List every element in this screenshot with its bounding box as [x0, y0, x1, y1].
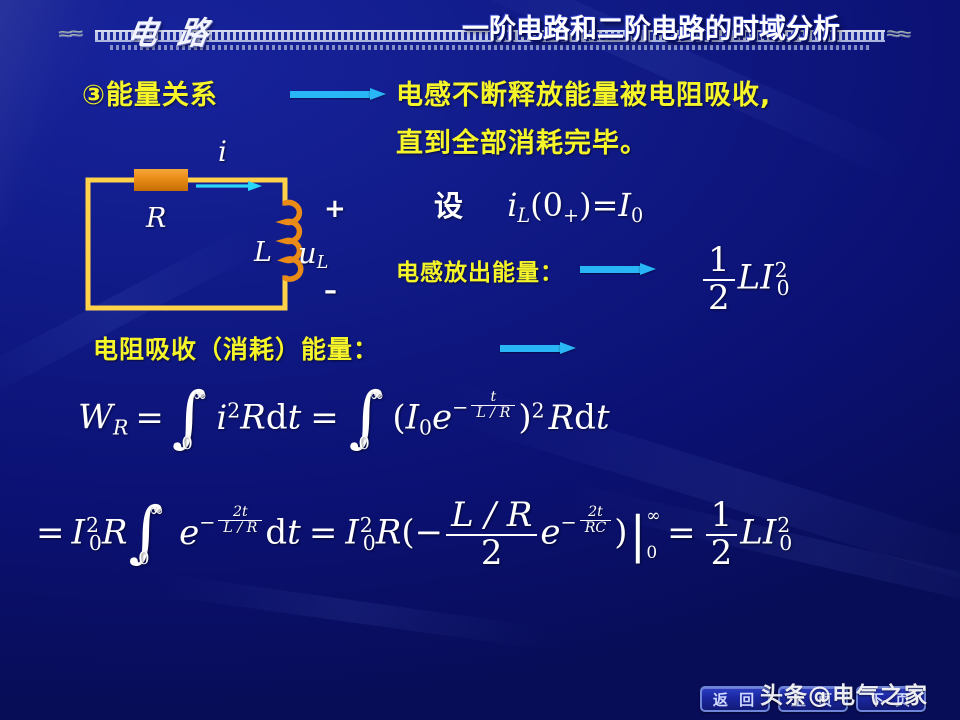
paren-open: (0	[530, 186, 563, 224]
fraction-denominator: 2	[706, 534, 738, 572]
integral-upper-limit: ∞	[193, 386, 208, 406]
inductor-energy-formula: 12LI20	[700, 243, 790, 316]
fraction-numerator: 1	[703, 243, 735, 279]
exponent-fraction: 2tL / R	[218, 505, 262, 536]
polarity-plus-label: +	[324, 194, 346, 224]
initial-current-subscript: 0	[89, 531, 102, 555]
differential-d-2: d	[574, 398, 596, 438]
one-half-fraction: 12	[706, 498, 738, 571]
differential-variable-2: t	[596, 398, 610, 438]
paren-close-equals: )=	[579, 186, 618, 224]
equals-sign-3: =	[667, 513, 696, 553]
exponent-numerator: 2t	[218, 505, 262, 520]
initial-current-symbol-2: I	[345, 513, 358, 553]
resistor-label: R	[146, 203, 166, 234]
polarity-minus-label: –	[324, 276, 337, 306]
equals-sign: =	[36, 513, 65, 553]
leaf-flourish-icon: ≈≈	[57, 24, 81, 45]
integral-sign: ∫∞0	[129, 506, 164, 563]
plus-subscript: +	[563, 204, 579, 227]
current-subscript: L	[517, 204, 530, 227]
resistance-variable-2: R	[376, 513, 402, 553]
resistance-variable-2: R	[549, 398, 575, 438]
integral-sign-2: ∫∞0	[349, 391, 384, 448]
fraction-denominator: 2	[703, 279, 735, 317]
exponent-group: −2tL / R	[199, 499, 265, 537]
exponent-minus: −	[452, 396, 468, 419]
integral-upper-limit: ∞	[369, 386, 384, 406]
exponent-denominator-2: RC	[580, 520, 612, 536]
back-button[interactable]: 返 回	[700, 686, 770, 712]
exponent-group: −tL / R	[452, 384, 518, 422]
exponent-numerator: t	[471, 390, 515, 405]
description-line-1: 电感不断释放能量被电阻吸收,	[396, 73, 771, 112]
fraction-numerator: 1	[706, 498, 738, 534]
integral-lower-limit: 0	[358, 434, 369, 454]
navigation-bar: 返 回 上 页 下 页	[700, 686, 926, 712]
page-title: 一阶电路和二阶电路的时域分析	[462, 7, 840, 46]
one-half-fraction: 12	[703, 243, 735, 316]
paren-close: )	[518, 398, 531, 438]
current-exponent: 2	[227, 398, 240, 422]
fraction-denominator: 2	[446, 534, 537, 572]
exponential-base-2: e	[540, 513, 560, 553]
section-heading-energy-relation: ③能量关系	[82, 73, 218, 112]
equals-sign-2: =	[310, 398, 339, 438]
exponent-fraction-2: 2tRC	[580, 505, 612, 536]
slide-header: ≈≈ ≈≈ 电 路 一阶电路和二阶电路的时域分析	[0, 0, 960, 58]
equals-sign-2: =	[309, 513, 338, 553]
setting-word: 设	[434, 189, 463, 223]
resistor-energy-label: 电阻吸收（消耗）能量：	[93, 330, 379, 366]
paren-close: )	[614, 513, 627, 553]
next-page-button[interactable]: 下 页	[856, 686, 926, 712]
differential-d: d	[266, 398, 288, 438]
eval-lower-limit: 0	[646, 543, 657, 563]
exponential-base: e	[179, 513, 199, 553]
exponent-denominator: L / R	[218, 520, 262, 536]
voltage-symbol: u	[298, 236, 317, 270]
leaf-flourish-icon: ≈≈	[885, 24, 909, 45]
brand-logo: 电 路	[124, 7, 217, 54]
right-arrow-icon	[290, 88, 386, 100]
initial-current-symbol: I	[72, 513, 85, 553]
work-subscript: R	[113, 416, 128, 440]
differential-variable: t	[288, 398, 302, 438]
exponent-minus-2: −	[560, 511, 576, 534]
equals-sign: =	[135, 398, 164, 438]
voltage-subscript: L	[317, 253, 329, 273]
circuit-diagram: i R L uL + –	[72, 140, 372, 335]
initial-current-subscript: 0	[631, 204, 643, 227]
description-line-2: 直到全部消耗完毕。	[396, 121, 648, 160]
initial-current-symbol: I	[406, 398, 419, 438]
differential-d: d	[265, 513, 287, 553]
integral-lower-limit: 0	[138, 549, 149, 569]
current-variable: i	[216, 398, 227, 438]
integral-lower-limit: 0	[181, 434, 192, 454]
resistor-component	[134, 169, 188, 191]
initial-current-subscript-2: 0	[363, 531, 376, 555]
exponent-minus: −	[199, 511, 215, 534]
right-arrow-icon	[500, 342, 576, 354]
work-equation-line-2: =I20R∫∞0e−2tL / Rdt=I20R(−L / R2e−2tRC)|…	[36, 498, 792, 571]
current-symbol: i	[507, 186, 517, 224]
integral-sign-1: ∫∞0	[172, 391, 207, 448]
eval-bar-glyph: |	[630, 506, 647, 564]
background-streak	[150, 572, 549, 649]
previous-page-button[interactable]: 上 页	[778, 686, 848, 712]
exponent-fraction: tL / R	[471, 390, 515, 421]
minus-sign: −	[415, 513, 444, 553]
exponential-base: e	[432, 398, 452, 438]
initial-condition-equation: 设 iL(0+)=I0	[434, 183, 643, 227]
resistance-variable: R	[240, 398, 266, 438]
paren-open: (	[401, 513, 414, 553]
energy-subscript: 0	[777, 276, 790, 300]
integral-upper-limit: ∞	[149, 501, 164, 521]
fraction-numerator: L / R	[446, 498, 537, 534]
differential-variable: t	[287, 513, 301, 553]
inductor-label: L	[254, 237, 272, 268]
work-symbol: W	[78, 398, 113, 438]
exponent-group-2: −2tRC	[560, 499, 614, 537]
slide-canvas: ≈≈ ≈≈ 电 路 一阶电路和二阶电路的时域分析 ③能量关系 电感不断释放能量被…	[0, 0, 960, 720]
energy-expression-body: LI	[740, 513, 776, 553]
energy-expression-body: LI	[738, 258, 774, 298]
evaluation-bar: |∞0	[630, 506, 661, 564]
energy-subscript: 0	[779, 531, 792, 555]
resistance-variable: R	[102, 513, 128, 553]
exponent-numerator-2: 2t	[580, 505, 612, 520]
time-constant-fraction: L / R2	[446, 498, 537, 571]
inductor-voltage-label: uL	[298, 236, 328, 273]
current-label: i	[218, 135, 227, 168]
initial-current-symbol: I	[618, 186, 631, 224]
paren-exponent: 2	[532, 398, 545, 422]
eval-upper-limit: ∞	[646, 506, 660, 526]
initial-current-subscript: 0	[419, 416, 432, 440]
inductor-energy-label: 电感放出能量：	[396, 253, 564, 287]
paren-open: (	[392, 398, 405, 438]
right-arrow-icon	[580, 263, 656, 275]
exponent-denominator: L / R	[471, 405, 515, 421]
work-equation-line-1: WR=∫∞0i2Rdt=∫∞0(I0e−tL / R)2Rdt	[78, 384, 610, 448]
